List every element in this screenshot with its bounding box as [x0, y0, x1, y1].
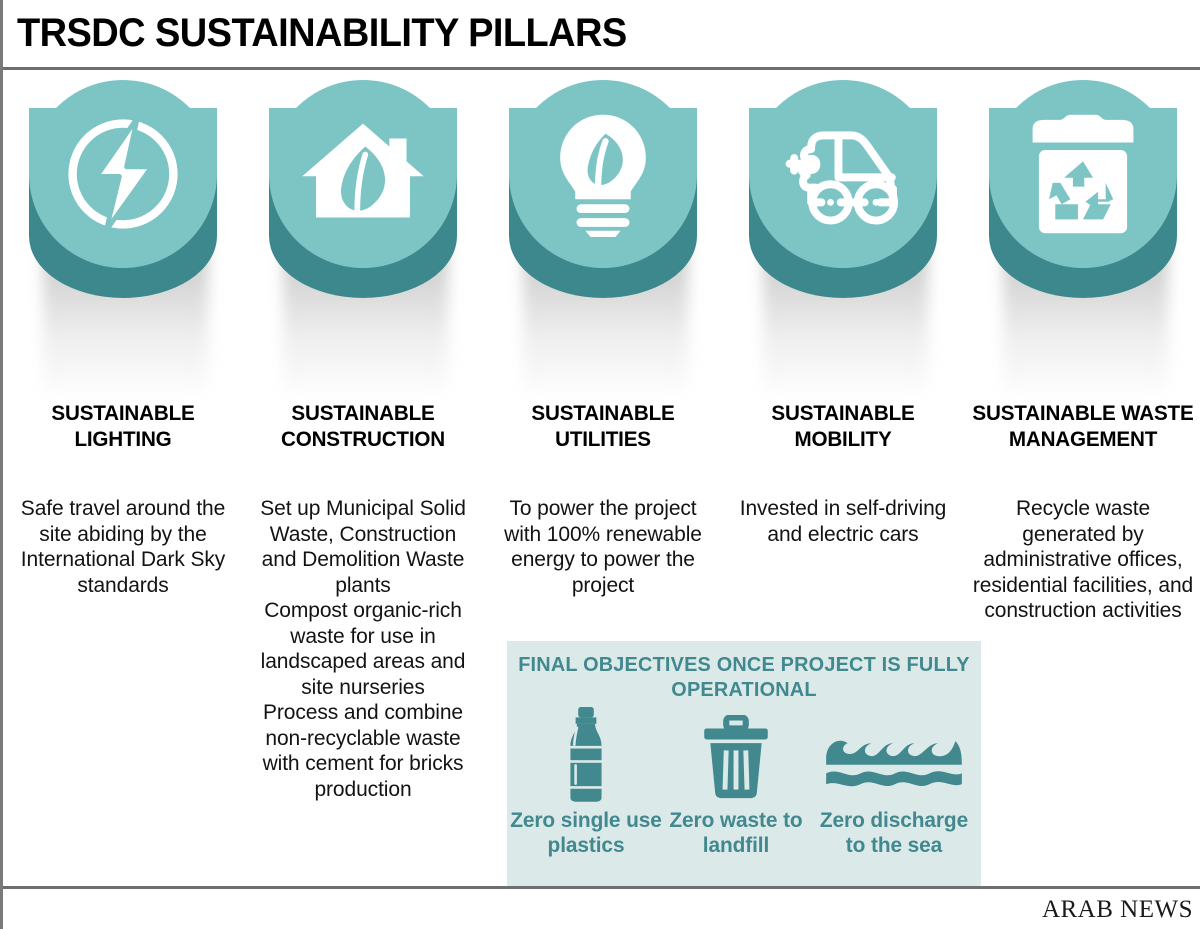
pillar-sustainable-construction: SUSTAINABLE CONSTRUCTION Set up Municipa… — [243, 70, 483, 400]
lightning-bolt-icon — [29, 80, 217, 268]
objectives-row: Zero single use plastics Ze — [507, 703, 981, 883]
objective-zero-discharge-to-the-sea: Zero discharge to the sea — [807, 703, 981, 858]
sea-waves-icon — [807, 703, 981, 803]
pillar-paragraph: Invested in self-driving and electric ca… — [731, 496, 955, 547]
panel-title: FINAL OBJECTIVES ONCE PROJECT IS FULLY O… — [514, 652, 974, 702]
pillar-sustainable-lighting: SUSTAINABLE LIGHTING Safe travel around … — [3, 70, 243, 400]
pillar-paragraph: Set up Municipal Solid Waste, Constructi… — [251, 496, 475, 598]
cylinder-shape — [269, 80, 457, 320]
pillar-heading: SUSTAINABLE LIGHTING — [8, 400, 238, 452]
pillar-cylinder — [3, 70, 243, 400]
pillar-body: Invested in self-driving and electric ca… — [731, 496, 955, 547]
house-leaf-icon — [269, 80, 457, 268]
pillar-paragraph: Safe travel around the site abiding by t… — [11, 496, 235, 598]
cylinder-shape — [29, 80, 217, 320]
recycle-bin-icon — [989, 80, 1177, 268]
pillar-heading: SUSTAINABLE WASTE MANAGEMENT — [968, 400, 1198, 452]
lightbulb-leaf-icon — [509, 80, 697, 268]
footer-bar: ARAB NEWS — [3, 886, 1200, 929]
pillar-paragraph: Recycle waste generated by administrativ… — [971, 496, 1195, 624]
objective-zero-waste-to-landfill: Zero waste to landfill — [657, 703, 815, 858]
pillar-cylinder — [963, 70, 1200, 400]
pillar-body: Recycle waste generated by administrativ… — [971, 496, 1195, 624]
pillar-body: Safe travel around the site abiding by t… — [11, 496, 235, 598]
pillar-sustainable-waste-management: SUSTAINABLE WASTE MANAGEMENT Recycle was… — [963, 70, 1200, 400]
page-title: TRSDC SUSTAINABILITY PILLARS — [17, 11, 627, 56]
objective-label: Zero discharge to the sea — [810, 808, 979, 858]
objective-label: Zero single use plastics — [509, 808, 662, 858]
cylinder-shape — [509, 80, 697, 320]
header-bar: TRSDC SUSTAINABILITY PILLARS — [3, 0, 1200, 70]
objective-zero-single-use-plastics: Zero single use plastics — [507, 703, 665, 858]
pillar-sustainable-utilities: SUSTAINABLE UTILITIES To power the proje… — [483, 70, 723, 400]
pillar-heading: SUSTAINABLE MOBILITY — [728, 400, 958, 452]
electric-car-icon — [749, 80, 937, 268]
pillar-cylinder — [243, 70, 483, 400]
plastic-bottle-icon — [507, 703, 665, 803]
pillar-paragraph: To power the project with 100% renewable… — [491, 496, 715, 598]
pillar-paragraph: Process and combine non-recyclable waste… — [251, 700, 475, 802]
pillar-body: Set up Municipal Solid Waste, Constructi… — [251, 496, 475, 802]
pillar-sustainable-mobility: SUSTAINABLE MOBILITY Invested in self-dr… — [723, 70, 963, 400]
pillar-heading: SUSTAINABLE CONSTRUCTION — [248, 400, 478, 452]
pillar-cylinder — [483, 70, 723, 400]
pillar-body: To power the project with 100% renewable… — [491, 496, 715, 598]
cylinder-shape — [749, 80, 937, 320]
final-objectives-panel: FINAL OBJECTIVES ONCE PROJECT IS FULLY O… — [507, 641, 981, 886]
trash-can-icon — [657, 703, 815, 803]
pillar-heading: SUSTAINABLE UTILITIES — [488, 400, 718, 452]
arab-news-logo: ARAB NEWS — [1042, 896, 1193, 924]
objective-label: Zero waste to landfill — [659, 808, 812, 858]
infographic-sheet: TRSDC SUSTAINABILITY PILLARS — [0, 0, 1200, 929]
pillar-cylinder — [723, 70, 963, 400]
pillar-paragraph: Compost organic-rich waste for use in la… — [251, 598, 475, 700]
cylinder-shape — [989, 80, 1177, 320]
